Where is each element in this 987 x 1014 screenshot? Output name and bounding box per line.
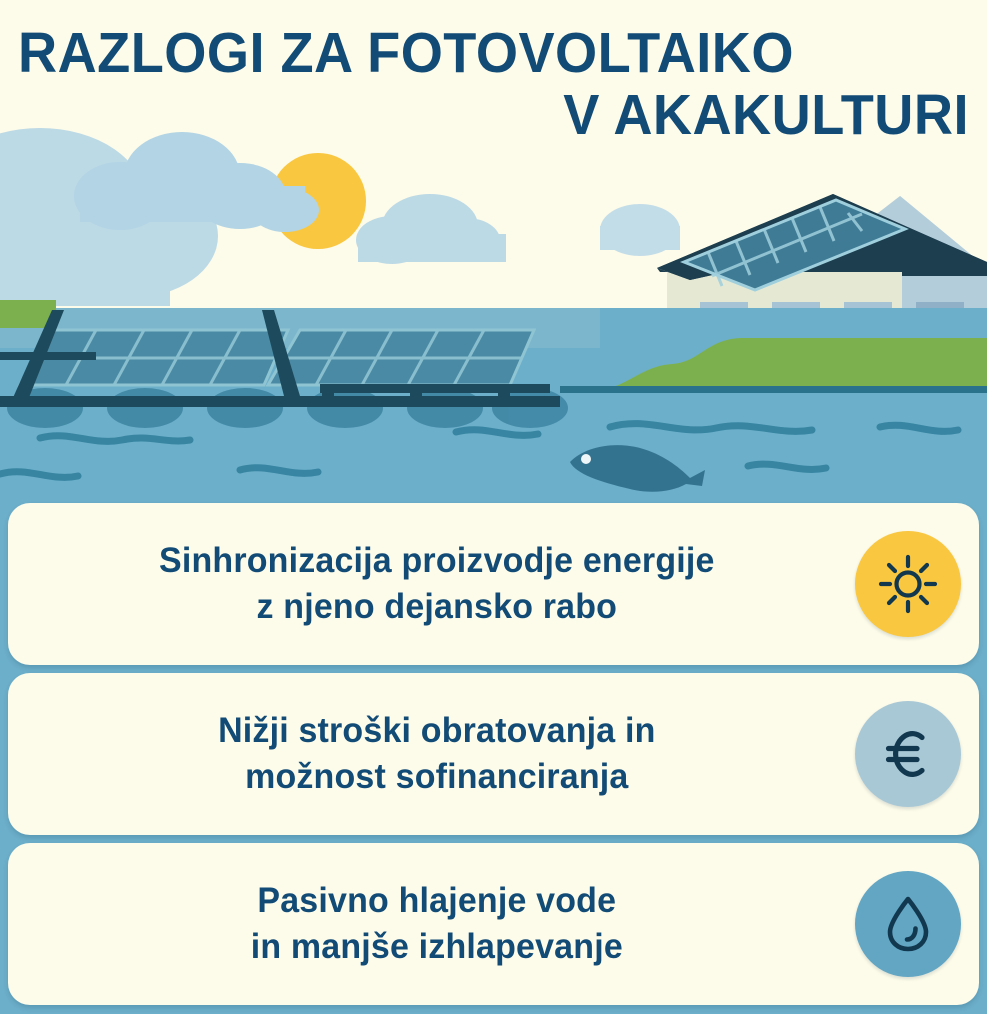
infographic-poster: RAZLOGI ZA FOTOVOLTAIKO V AKAKULTURI Sin… <box>0 0 987 1014</box>
title-line-1: RAZLOGI ZA FOTOVOLTAIKO <box>18 22 921 84</box>
card-synchronization-line-1: Sinhronizacija proizvodje energije <box>50 538 823 584</box>
euro-icon-badge <box>855 701 961 807</box>
card-passive-cooling[interactable]: Pasivno hlajenje vode in manjše izhlapev… <box>8 843 979 1005</box>
card-lower-costs[interactable]: Nižji stroški obratovanja in možnost sof… <box>8 673 979 835</box>
card-synchronization-text: Sinhronizacija proizvodje energije z nje… <box>50 538 842 630</box>
title-line-2: V AKAKULTURI <box>66 84 969 146</box>
cloud-far-right <box>600 204 680 256</box>
card-synchronization[interactable]: Sinhronizacija proizvodje energije z nje… <box>8 503 979 665</box>
card-lower-costs-line-2: možnost sofinanciranja <box>50 754 823 800</box>
card-passive-cooling-line-1: Pasivno hlajenje vode <box>50 878 823 924</box>
water-drop-icon-badge <box>855 871 961 977</box>
sun-icon <box>878 554 938 614</box>
card-passive-cooling-line-2: in manjše izhlapevanje <box>50 924 823 970</box>
card-lower-costs-line-1: Nižji stroški obratovanja in <box>50 708 823 754</box>
poster-title: RAZLOGI ZA FOTOVOLTAIKO V AKAKULTURI <box>0 22 987 146</box>
water-drop-icon <box>877 893 939 955</box>
sun-icon-badge <box>855 531 961 637</box>
fish-eye <box>581 454 591 464</box>
benefit-cards-list: Sinhronizacija proizvodje energije z nje… <box>0 496 987 1014</box>
card-passive-cooling-text: Pasivno hlajenje vode in manjše izhlapev… <box>50 878 842 970</box>
card-lower-costs-text: Nižji stroški obratovanja in možnost sof… <box>50 708 842 800</box>
card-synchronization-line-2: z njeno dejansko rabo <box>50 584 823 630</box>
euro-icon <box>876 722 940 786</box>
